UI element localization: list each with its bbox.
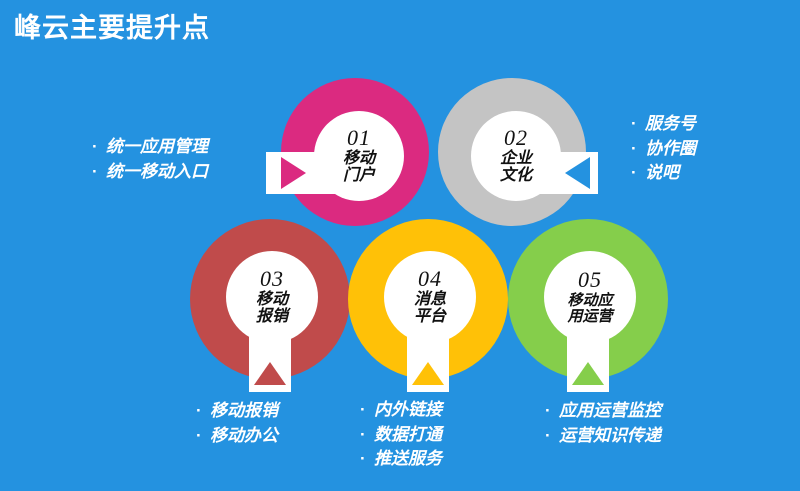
list-item-label: 服务号	[645, 112, 696, 137]
step-label-02[interactable]: 02 企业 文化	[471, 111, 561, 201]
step-label-04[interactable]: 04 消息 平台	[384, 251, 476, 343]
step-number: 03	[260, 268, 284, 290]
step-number: 04	[418, 268, 442, 290]
triangle-up-icon	[412, 362, 444, 385]
list-item-label: 推送服务	[374, 447, 442, 472]
triangle-left-icon	[565, 157, 590, 189]
list-item-label: 应用运营监控	[559, 399, 661, 424]
bullet-dot: ·	[360, 423, 374, 448]
bullet-dot: ·	[360, 398, 374, 423]
list-item: · 统一移动入口	[92, 160, 208, 185]
list-item-label: 说吧	[645, 161, 679, 186]
bullet-dot: ·	[631, 112, 645, 137]
list-item: · 运营知识传递	[545, 424, 661, 449]
list-item: · 应用运营监控	[545, 399, 661, 424]
list-item-label: 运营知识传递	[559, 424, 661, 449]
bullet-dot: ·	[196, 424, 210, 449]
list-item: · 移动报销	[196, 399, 278, 424]
infographic-slide: 峰云主要提升点 01 移动 门户 02 企业 文化 03 移动 报销 04 消息…	[0, 0, 800, 491]
step-label-01[interactable]: 01 移动 门户	[314, 111, 404, 201]
list-item-label: 内外链接	[374, 398, 442, 423]
step-name: 移动应 用运营	[567, 293, 612, 325]
list-item-label: 统一应用管理	[106, 135, 208, 160]
list-item: · 推送服务	[360, 447, 442, 472]
list-item-label: 协作圈	[645, 137, 696, 162]
list-item: · 内外链接	[360, 398, 442, 423]
bullet-dot: ·	[545, 399, 559, 424]
list-item: · 移动办公	[196, 424, 278, 449]
list-item: · 协作圈	[631, 137, 696, 162]
callout-right: · 服务号 · 协作圈 · 说吧	[631, 112, 696, 186]
list-item: · 数据打通	[360, 423, 442, 448]
step-number: 05	[578, 269, 602, 291]
callout-bottom-middle: · 内外链接 · 数据打通 · 推送服务	[360, 398, 442, 472]
step-label-03[interactable]: 03 移动 报销	[226, 251, 318, 343]
callout-left: · 统一应用管理 · 统一移动入口	[92, 135, 208, 184]
callout-bottom-left: · 移动报销 · 移动办公	[196, 399, 278, 448]
step-name: 企业 文化	[500, 151, 532, 185]
bullet-dot: ·	[92, 160, 106, 185]
list-item-label: 数据打通	[374, 423, 442, 448]
step-name: 消息 平台	[414, 292, 446, 326]
triangle-up-icon	[572, 362, 604, 385]
list-item-label: 移动办公	[210, 424, 278, 449]
list-item-label: 统一移动入口	[106, 160, 208, 185]
step-label-05[interactable]: 05 移动应 用运营	[544, 251, 636, 343]
step-number: 02	[504, 127, 528, 149]
step-name: 移动 门户	[343, 151, 375, 185]
bullet-dot: ·	[92, 135, 106, 160]
step-number: 01	[347, 127, 371, 149]
list-item: · 说吧	[631, 161, 696, 186]
list-item: · 服务号	[631, 112, 696, 137]
bullet-dot: ·	[631, 137, 645, 162]
callout-bottom-right: · 应用运营监控 · 运营知识传递	[545, 399, 661, 448]
page-title: 峰云主要提升点	[14, 12, 210, 44]
step-name: 移动 报销	[256, 292, 288, 326]
list-item: · 统一应用管理	[92, 135, 208, 160]
bullet-dot: ·	[360, 447, 374, 472]
triangle-up-icon	[254, 362, 286, 385]
bullet-dot: ·	[631, 161, 645, 186]
triangle-right-icon	[281, 157, 306, 189]
bullet-dot: ·	[196, 399, 210, 424]
bullet-dot: ·	[545, 424, 559, 449]
list-item-label: 移动报销	[210, 399, 278, 424]
